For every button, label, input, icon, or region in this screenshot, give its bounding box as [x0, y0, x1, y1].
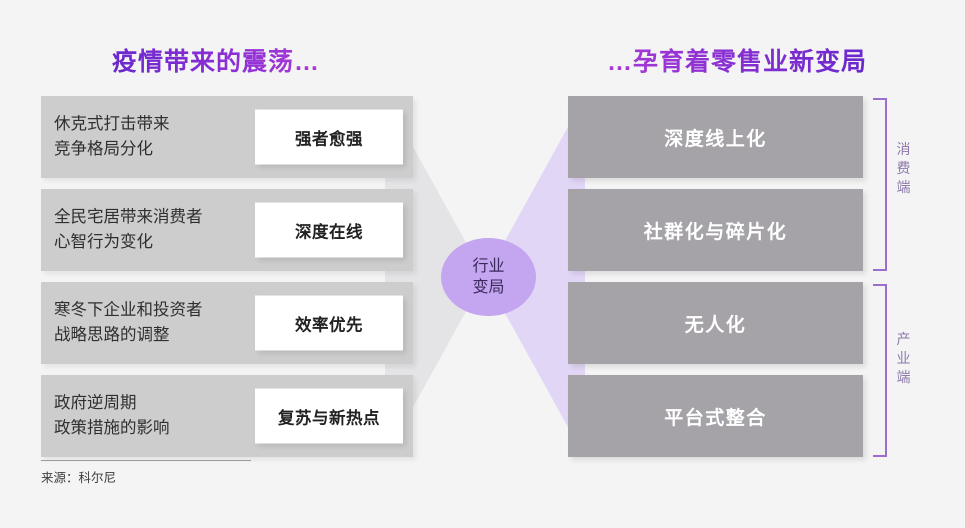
impacts-column: 休克式打击带来 竞争格局分化 强者愈强 全民宅居带来消费者 心智行为变化 深度在…: [41, 96, 413, 468]
trends-column: 深度线上化 社群化与碎片化 无人化 平台式整合: [568, 96, 863, 468]
trend-box[interactable]: 平台式整合: [568, 375, 863, 457]
footer: 来源：科尔尼: [41, 460, 251, 486]
trend-box[interactable]: 无人化: [568, 282, 863, 364]
impact-row[interactable]: 休克式打击带来 竞争格局分化 强者愈强: [41, 96, 413, 178]
impact-outcome-tag[interactable]: 深度在线: [255, 203, 403, 258]
source-note: 来源：科尔尼: [41, 467, 251, 486]
impact-outcome-tag[interactable]: 强者愈强: [255, 110, 403, 165]
left-section-title: 疫情带来的震荡…: [112, 42, 320, 78]
impact-description: 休克式打击带来 竞争格局分化: [54, 112, 170, 162]
consumer-side-label: 消费端: [893, 140, 915, 197]
industry-side-label: 产业端: [893, 330, 915, 387]
hub-line-1: 行业: [472, 256, 504, 277]
impact-row[interactable]: 政府逆周期 政策措施的影响 复苏与新热点: [41, 375, 413, 457]
industry-side-bracket: [873, 284, 887, 457]
footer-divider: [41, 460, 251, 461]
impact-row[interactable]: 寒冬下企业和投资者 战略思路的调整 效率优先: [41, 282, 413, 364]
consumer-side-bracket: [873, 98, 887, 271]
trend-box[interactable]: 社群化与碎片化: [568, 189, 863, 271]
hub-line-2: 变局: [472, 277, 504, 298]
slide-canvas: 疫情带来的震荡… …孕育着零售业新变局 休克式打击带来 竞争格局分化 强者愈强 …: [0, 0, 965, 528]
center-hub-ellipse: 行业 变局: [441, 238, 536, 316]
trend-box[interactable]: 深度线上化: [568, 96, 863, 178]
impact-description: 政府逆周期 政策措施的影响: [54, 391, 170, 441]
impact-outcome-tag[interactable]: 复苏与新热点: [255, 389, 403, 444]
impact-row[interactable]: 全民宅居带来消费者 心智行为变化 深度在线: [41, 189, 413, 271]
impact-description: 全民宅居带来消费者 心智行为变化: [54, 205, 203, 255]
impact-description: 寒冬下企业和投资者 战略思路的调整: [54, 298, 203, 348]
impact-outcome-tag[interactable]: 效率优先: [255, 296, 403, 351]
right-section-title: …孕育着零售业新变局: [607, 42, 867, 78]
